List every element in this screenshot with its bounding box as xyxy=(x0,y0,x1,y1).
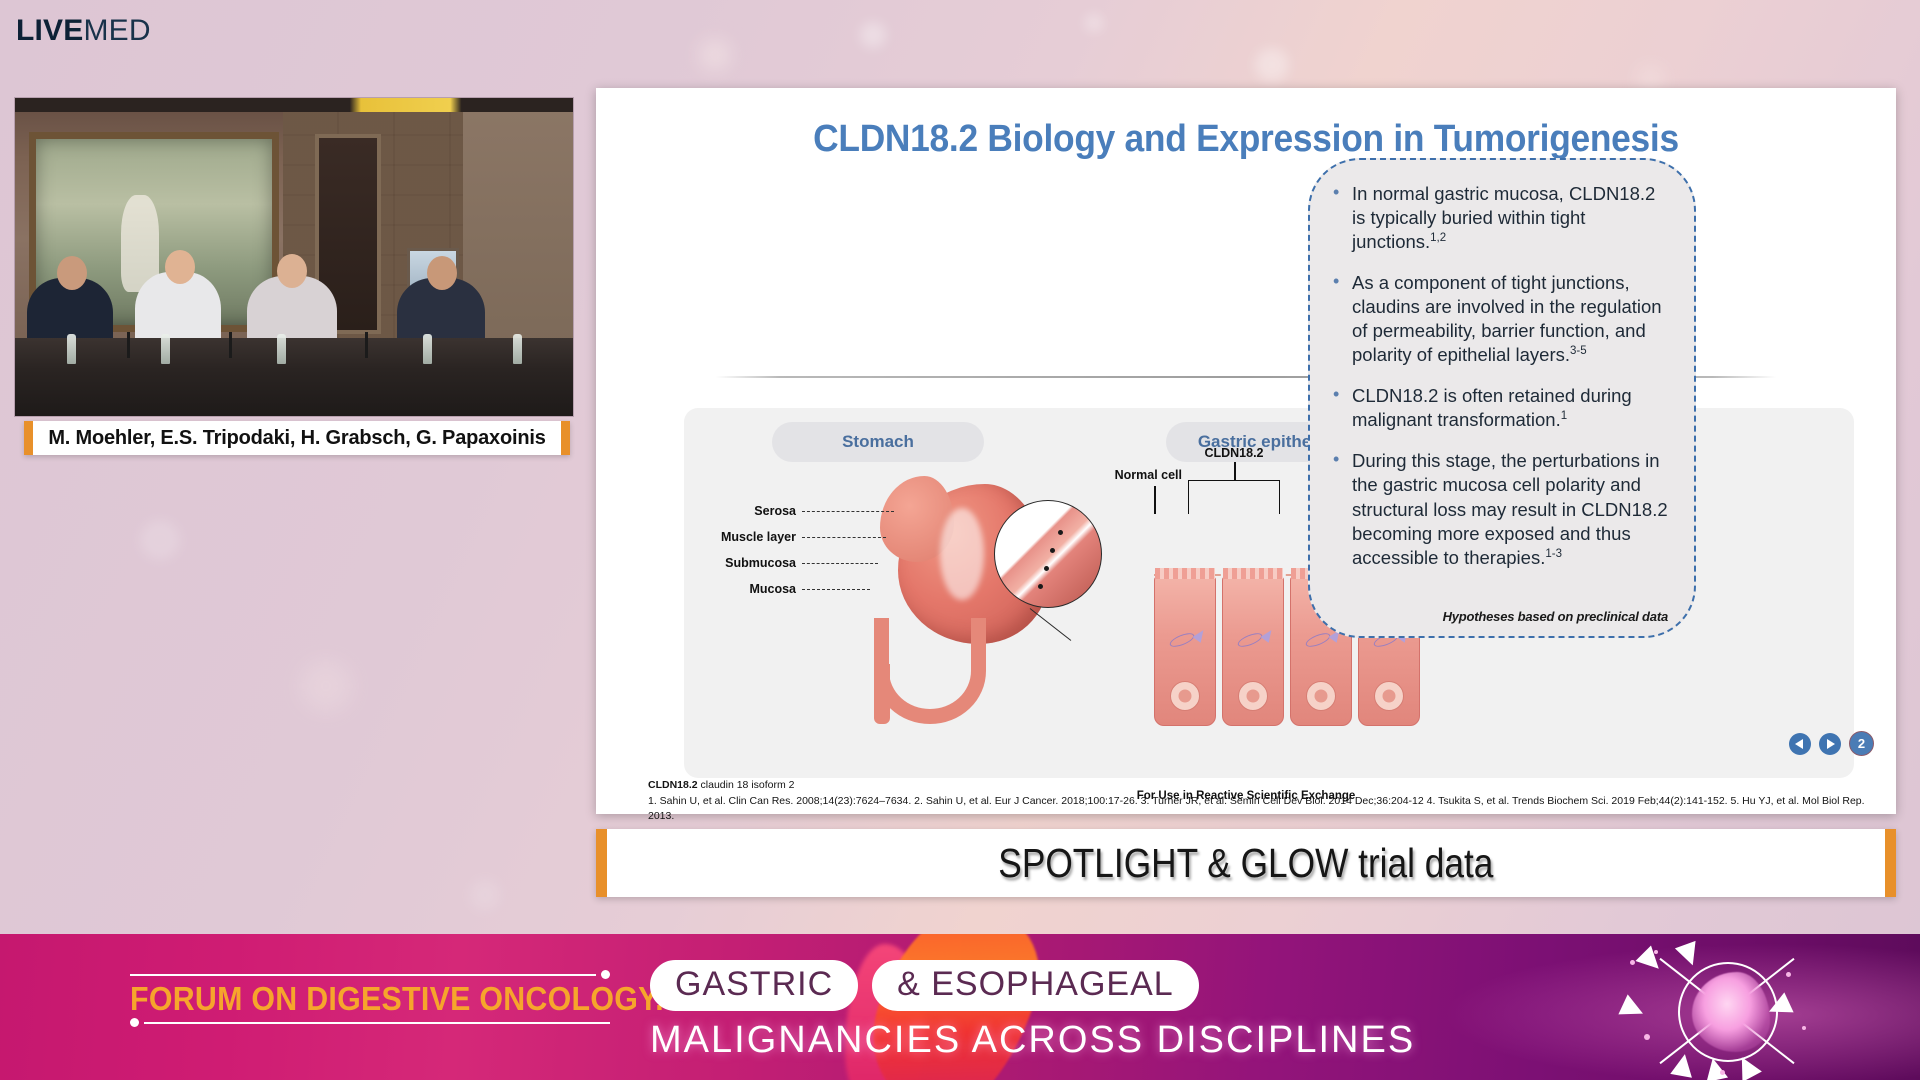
chevron-left-icon xyxy=(1795,739,1803,749)
bullet-text: In normal gastric mucosa, CLDN18.2 is ty… xyxy=(1352,183,1655,252)
video-player[interactable] xyxy=(14,97,574,417)
water-bottle xyxy=(513,334,522,364)
stomach-target-logo xyxy=(1620,942,1830,1080)
bokeh-dot xyxy=(1085,14,1103,32)
stomach-illustration xyxy=(844,468,1104,738)
bokeh-dot xyxy=(1255,48,1289,82)
transport-arrow xyxy=(1192,627,1207,643)
microphone xyxy=(127,332,130,358)
banner-title-lockup: GASTRIC & ESOPHAGEAL MALIGNANCIES ACROSS… xyxy=(650,960,1580,1062)
epithelial-cell xyxy=(1222,576,1284,726)
normal-cell-pointer xyxy=(1154,486,1156,514)
stomach-glow-icon xyxy=(1692,972,1770,1052)
bokeh-dot xyxy=(470,880,500,910)
arrow-icon xyxy=(1675,941,1703,969)
bokeh-dot xyxy=(140,520,180,560)
list-item: During this stage, the perturbations in … xyxy=(1330,449,1670,569)
slide-footer-text: For Use in Reactive Scientific Exchange xyxy=(596,790,1896,802)
bullet-citation: 1 xyxy=(1561,410,1567,422)
stomach-leader-1 xyxy=(802,537,886,538)
arrow-icon xyxy=(1670,1052,1695,1077)
cldn-pointer xyxy=(1234,462,1236,480)
banner-subtitle: MALIGNANCIES ACROSS DISCIPLINES xyxy=(650,1019,1580,1062)
prev-slide-button[interactable] xyxy=(1789,733,1811,755)
page-number-badge[interactable]: 2 xyxy=(1849,731,1874,756)
forum-rule-bottom xyxy=(130,1018,610,1028)
cell-nucleus xyxy=(1170,681,1200,711)
slide-viewer[interactable]: CLDN18.2 Biology and Expression in Tumor… xyxy=(596,88,1896,814)
bullet-citation: 1-3 xyxy=(1545,547,1562,559)
banner-title-row-1: GASTRIC & ESOPHAGEAL xyxy=(650,960,1580,1011)
arrow-icon xyxy=(1635,945,1666,976)
banner-pill-gastric: GASTRIC xyxy=(650,960,858,1011)
organelle xyxy=(1304,630,1332,649)
stomach-label-1: Muscle layer xyxy=(689,530,796,544)
bokeh-dot xyxy=(1640,68,1662,90)
panelist-head xyxy=(277,254,307,288)
bullet-text: During this stage, the perturbations in … xyxy=(1352,450,1668,567)
microphone xyxy=(229,332,232,358)
stomach-label-0: Serosa xyxy=(702,504,796,518)
sparkle xyxy=(1802,1026,1806,1030)
sparkle xyxy=(1786,972,1791,977)
app-root: LIVE MED M. Moehler, E.S. Tripodaki, H. … xyxy=(0,0,1920,1080)
bokeh-dot xyxy=(860,22,886,48)
livemed-logo[interactable]: LIVE MED xyxy=(16,14,151,48)
bokeh-dot xyxy=(300,660,352,712)
microphone xyxy=(365,332,368,358)
leader-dot xyxy=(1058,530,1063,535)
cldn-bracket xyxy=(1188,480,1280,514)
logo-bold-text: LIVE xyxy=(16,14,83,48)
water-bottle xyxy=(423,334,432,364)
duodenum-tail xyxy=(874,664,890,724)
epi-label-cldn: CLDN18.2 xyxy=(1174,446,1294,460)
organelle xyxy=(1236,630,1264,649)
panelist-head xyxy=(57,256,87,290)
ceiling-light xyxy=(15,98,573,112)
list-item: In normal gastric mucosa, CLDN18.2 is ty… xyxy=(1330,182,1670,254)
callout-box: In normal gastric mucosa, CLDN18.2 is ty… xyxy=(1308,158,1696,638)
panelist-head xyxy=(165,250,195,284)
epithelial-cell xyxy=(1154,576,1216,726)
leader-dot xyxy=(1050,548,1055,553)
layer-zoom-circle xyxy=(994,500,1102,608)
label-stomach: Stomach xyxy=(772,422,984,462)
event-banner: FORUM ON DIGESTIVE ONCOLOGY. GASTRIC & E… xyxy=(0,934,1920,1080)
arrow-icon xyxy=(1702,1056,1728,1080)
logo-light-text: MED xyxy=(83,14,150,48)
forum-rule-top xyxy=(130,970,610,980)
cell-nucleus xyxy=(1238,681,1268,711)
microvilli xyxy=(1155,568,1215,579)
slide-title: CLDN18.2 Biology and Expression in Tumor… xyxy=(642,118,1851,161)
forum-lockup: FORUM ON DIGESTIVE ONCOLOGY. xyxy=(130,970,610,1028)
sparkle xyxy=(1644,1034,1650,1040)
speaker-names: M. Moehler, E.S. Tripodaki, H. Grabsch, … xyxy=(48,427,545,450)
stomach-leader-3 xyxy=(802,589,870,590)
bullet-text: CLDN18.2 is often retained during malign… xyxy=(1352,385,1632,430)
list-item: CLDN18.2 is often retained during malign… xyxy=(1330,384,1670,432)
panelist-head xyxy=(427,256,457,290)
water-bottle xyxy=(67,334,76,364)
microvilli xyxy=(1223,568,1283,579)
zoom-connector xyxy=(1030,608,1072,641)
sparkle xyxy=(1630,960,1635,965)
next-slide-button[interactable] xyxy=(1819,733,1841,755)
leader-dot xyxy=(1044,566,1049,571)
arrow-icon xyxy=(1618,994,1647,1023)
hypotheses-note: Hypotheses based on preclinical data xyxy=(1443,609,1668,624)
bullet-citation: 3-5 xyxy=(1570,345,1587,357)
leader-dot xyxy=(1038,584,1043,589)
chevron-right-icon xyxy=(1827,739,1835,749)
stomach-label-2: Submucosa xyxy=(698,556,796,570)
transport-arrow xyxy=(1260,627,1275,643)
session-title: SPOTLIGHT & GLOW trial data xyxy=(998,840,1493,887)
bokeh-dot xyxy=(700,40,730,70)
stomach-label-3: Mucosa xyxy=(714,582,796,596)
organelle xyxy=(1168,630,1196,649)
panel-table xyxy=(15,338,573,416)
list-item: As a component of tight junctions, claud… xyxy=(1330,271,1670,367)
cell-nucleus xyxy=(1374,681,1404,711)
epi-label-normal-cell: Normal cell xyxy=(1086,468,1182,482)
sparkle xyxy=(1654,950,1658,954)
slide-navigation[interactable]: 2 xyxy=(1789,731,1874,756)
forum-title: FORUM ON DIGESTIVE ONCOLOGY. xyxy=(130,980,572,1018)
banner-pill-esophageal: & ESOPHAGEAL xyxy=(872,960,1199,1011)
sparkle xyxy=(1720,1070,1725,1075)
stomach-leader-2 xyxy=(802,563,878,564)
callout-bullet-list: In normal gastric mucosa, CLDN18.2 is ty… xyxy=(1330,182,1670,570)
cell-nucleus xyxy=(1306,681,1336,711)
speaker-names-bar: M. Moehler, E.S. Tripodaki, H. Grabsch, … xyxy=(24,421,570,455)
duodenum xyxy=(874,618,986,724)
bullet-citation: 1,2 xyxy=(1430,232,1446,244)
water-bottle xyxy=(161,334,170,364)
water-bottle xyxy=(277,334,286,364)
bullet-text: As a component of tight junctions, claud… xyxy=(1352,272,1662,365)
session-title-bar: SPOTLIGHT & GLOW trial data xyxy=(596,829,1896,897)
stomach-leader-0 xyxy=(802,511,894,512)
stomach-highlight xyxy=(940,508,984,600)
